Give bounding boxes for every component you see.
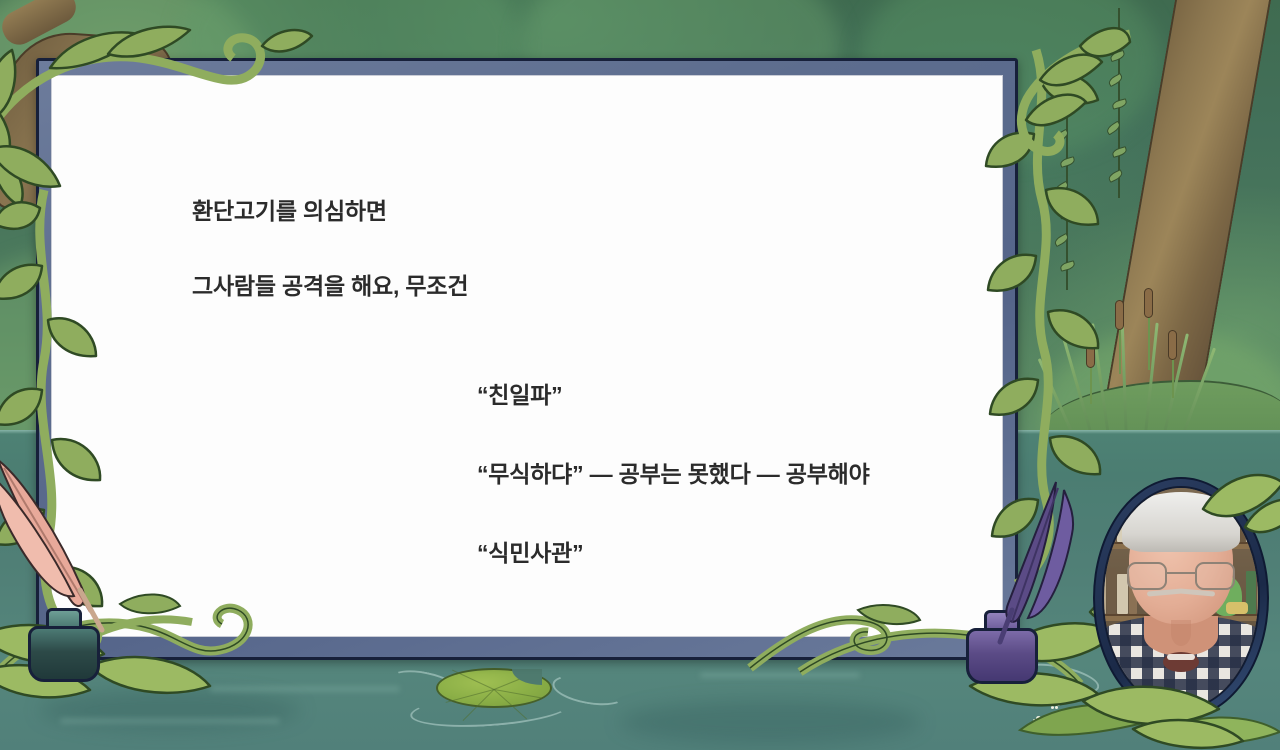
- slide-quote-3: “식민사관”: [477, 538, 962, 569]
- webcam-leaf-overlay-bottom: [1073, 673, 1253, 750]
- water-streak: [60, 718, 280, 724]
- glasses-bridge: [1167, 572, 1195, 574]
- slide-line-2: 그사람들 공격을 해요, 무조건: [192, 271, 962, 302]
- mouth: [1163, 652, 1199, 672]
- lily-pad: [436, 668, 552, 708]
- slide-line-1: 환단고기를 의심하면: [192, 196, 962, 227]
- water-streak: [700, 672, 860, 678]
- cattail-head: [1144, 288, 1153, 318]
- slide-quote-2: “무식하댜” — 공부는 못했다 — 공부해야: [477, 459, 962, 490]
- cattail-head: [1086, 338, 1095, 368]
- whiteboard-frame: 환단고기를 의심하면 그사람들 공격을 해요, 무조건 “친일파” “무식하댜”…: [36, 58, 1018, 660]
- slide-quote-1: “친일파”: [477, 380, 962, 411]
- eyeglasses: [1127, 562, 1235, 592]
- cattail-head: [1115, 300, 1124, 330]
- nose: [1171, 620, 1191, 646]
- lens-left: [1127, 562, 1167, 590]
- webcam-leaf-overlay-top: [1197, 465, 1280, 555]
- water-shadow: [40, 690, 300, 730]
- water-shadow: [620, 700, 920, 744]
- slide-text-block: 환단고기를 의심하면 그사람들 공격을 해요, 무조건 “친일파” “무식하댜”…: [192, 196, 962, 569]
- speaker-webcam[interactable]: [1093, 477, 1269, 719]
- slide-stage: 환단고기를 의심하면 그사람들 공격을 해요, 무조건 “친일파” “무식하댜”…: [0, 0, 1280, 750]
- pink-feather-quill: [0, 460, 144, 655]
- whiteboard-surface: 환단고기를 의심하면 그사람들 공격을 해요, 무조건 “친일파” “무식하댜”…: [51, 75, 1003, 637]
- lens-right: [1195, 562, 1235, 590]
- cattail-head: [1168, 330, 1177, 360]
- water-streak: [210, 686, 400, 692]
